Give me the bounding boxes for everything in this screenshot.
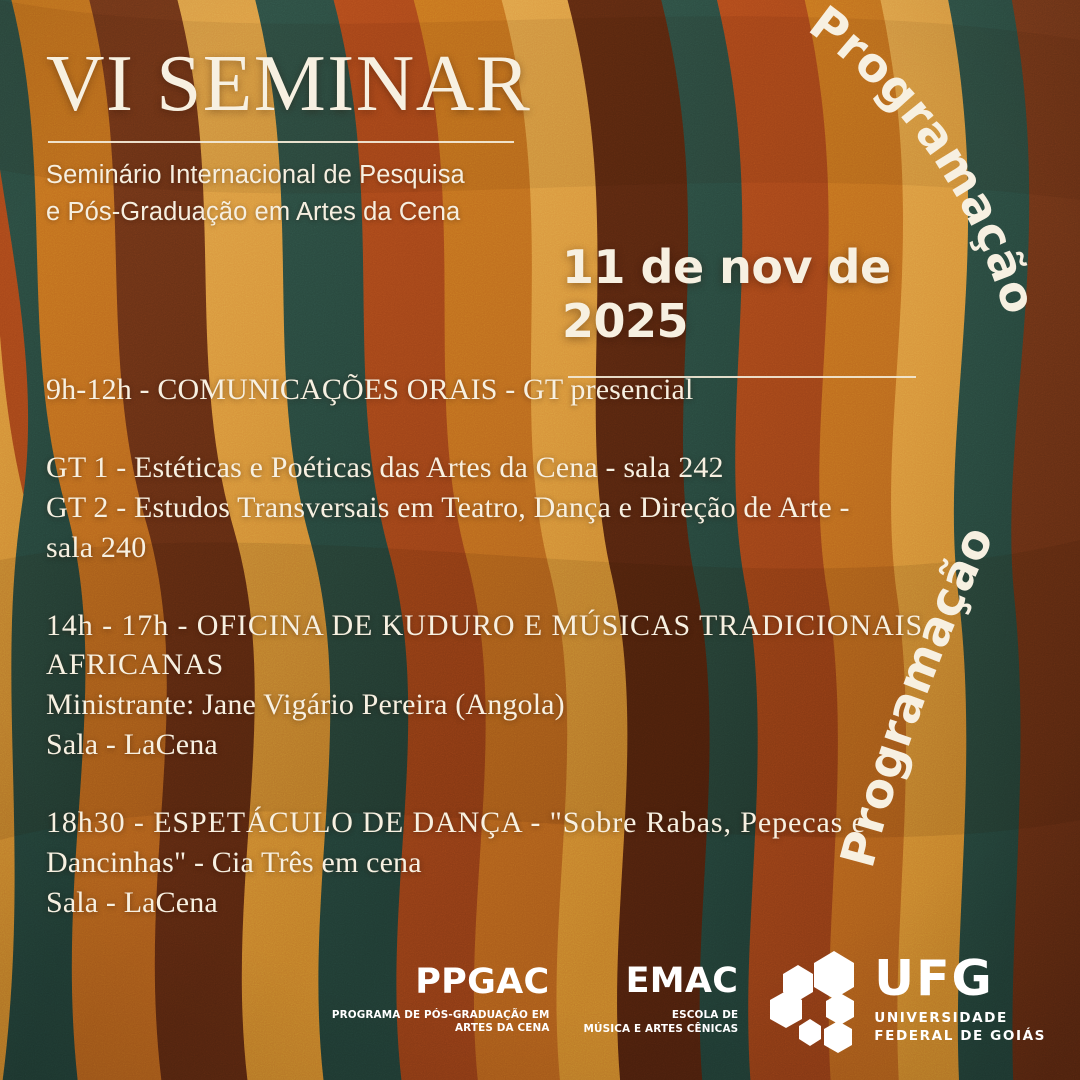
- title-divider: [48, 141, 514, 143]
- schedule-block-afternoon: 14h - 17h - OFICINA DE KUDURO E MÚSICAS …: [46, 606, 946, 766]
- ppgac-wordmark: PPGAC: [415, 965, 549, 1000]
- logo-emac: EMAC ESCOLA DE MÚSICA E ARTES CÊNICAS: [584, 964, 739, 1038]
- schedule-block-evening: 18h30 - ESPETÁCULO DE DANÇA - "Sobre Rab…: [46, 803, 946, 923]
- poster-content: VI SEMINAR Seminário Internacional de Pe…: [0, 0, 1080, 1080]
- schedule-line: Sala - LaCena: [46, 883, 946, 923]
- schedule-list: 9h-12h - COMUNICAÇÕES ORAIS - GT presenc…: [46, 370, 946, 923]
- ppgac-subtitle-line-2: ARTES DA CENA: [332, 1022, 550, 1035]
- subtitle-line-2: e Pós-Graduação em Artes da Cena: [46, 194, 666, 231]
- schedule-line: Dancinhas" - Cia Três em cena: [46, 843, 946, 883]
- schedule-line: Sala - LaCena: [46, 725, 946, 765]
- emac-subtitle-line-1: ESCOLA DE: [584, 1009, 739, 1022]
- schedule-line: AFRICANAS: [46, 645, 946, 685]
- emac-subtitle: ESCOLA DE MÚSICA E ARTES CÊNICAS: [584, 1009, 739, 1036]
- subtitle-line-1: Seminário Internacional de Pesquisa: [46, 157, 666, 194]
- ufg-wordmark-group: UFG UNIVERSIDADE FEDERAL DE GOIÁS: [874, 956, 1046, 1045]
- event-date: 11 de nov de 2025: [562, 240, 1026, 348]
- schedule-line: GT 1 - Estéticas e Poéticas das Artes da…: [46, 448, 946, 488]
- schedule-line: 14h - 17h - OFICINA DE KUDURO E MÚSICAS …: [46, 606, 946, 646]
- ppgac-subtitle: PROGRAMA DE PÓS-GRADUAÇÃO EM ARTES DA CE…: [332, 1009, 550, 1036]
- schedule-line: sala 240: [46, 528, 946, 568]
- schedule-line: Ministrante: Jane Vigário Pereira (Angol…: [46, 685, 946, 725]
- date-block: 11 de nov de 2025: [556, 240, 1026, 378]
- page-title: VI SEMINAR: [46, 44, 666, 123]
- schedule-block-gts: GT 1 - Estéticas e Poéticas das Artes da…: [46, 448, 946, 568]
- emac-subtitle-line-2: MÚSICA E ARTES CÊNICAS: [584, 1023, 739, 1036]
- poster-canvas: VI SEMINAR Seminário Internacional de Pe…: [0, 0, 1080, 1080]
- ufg-wordmark: UFG: [874, 956, 1046, 1002]
- schedule-line: 9h-12h - COMUNICAÇÕES ORAIS - GT presenc…: [46, 370, 946, 410]
- ppgac-subtitle-line-1: PROGRAMA DE PÓS-GRADUAÇÃO EM: [332, 1009, 550, 1022]
- hexagon-cluster-icon: [768, 949, 864, 1053]
- ufg-subtitle-line-1: UNIVERSIDADE: [874, 1010, 1046, 1028]
- schedule-line: GT 2 - Estudos Transversais em Teatro, D…: [46, 488, 946, 528]
- emac-wordmark: EMAC: [626, 964, 739, 999]
- footer-logos: PPGAC PROGRAMA DE PÓS-GRADUAÇÃO EM ARTES…: [0, 946, 1080, 1056]
- logo-ufg: UFG UNIVERSIDADE FEDERAL DE GOIÁS: [768, 949, 1046, 1053]
- schedule-block-morning: 9h-12h - COMUNICAÇÕES ORAIS - GT presenc…: [46, 370, 946, 410]
- ufg-subtitle-line-2: FEDERAL DE GOIÁS: [874, 1028, 1046, 1046]
- ufg-subtitle: UNIVERSIDADE FEDERAL DE GOIÁS: [874, 1010, 1046, 1045]
- header-block: VI SEMINAR Seminário Internacional de Pe…: [46, 44, 666, 231]
- logo-ppgac: PPGAC PROGRAMA DE PÓS-GRADUAÇÃO EM ARTES…: [332, 965, 550, 1038]
- schedule-line: 18h30 - ESPETÁCULO DE DANÇA - "Sobre Rab…: [46, 803, 946, 843]
